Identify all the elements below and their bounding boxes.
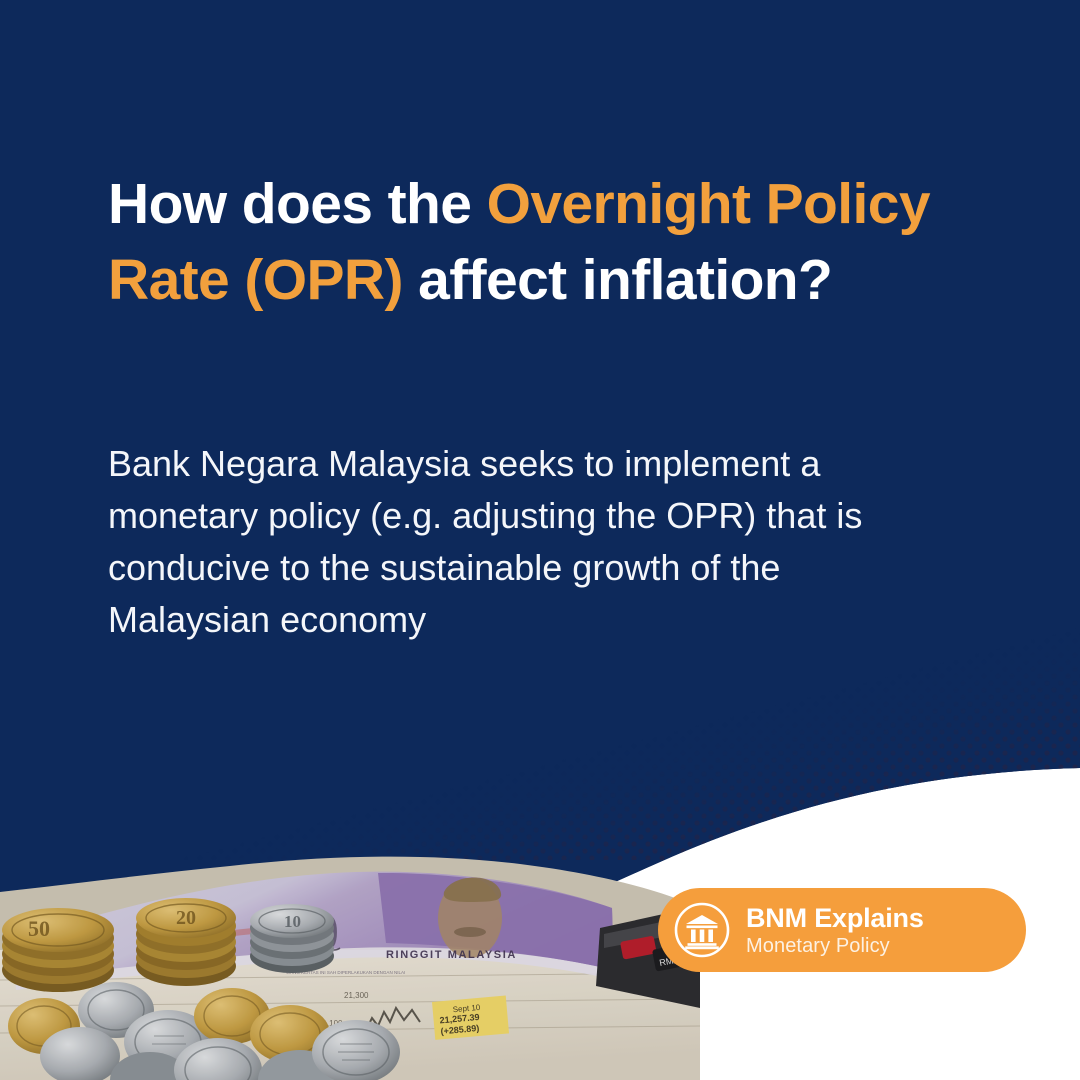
currency-photo: 21,300 21,100 100 RINGGIT MALAYSIA GABEN… (0, 830, 700, 1080)
bank-building-icon (672, 900, 732, 960)
badge-title: BNM Explains (746, 905, 924, 932)
headline-part-2: affect inflation? (403, 248, 832, 312)
badge-text-group: BNM Explains Monetary Policy (746, 905, 924, 956)
headline-part-1: How does the (108, 172, 487, 236)
badge-subtitle: Monetary Policy (746, 936, 924, 956)
bnm-explains-badge[interactable]: BNM Explains Monetary Policy (658, 888, 1026, 972)
page-title: How does the Overnight Policy Rate (OPR)… (108, 166, 988, 318)
poster-canvas: How does the Overnight Policy Rate (OPR)… (0, 0, 1080, 1080)
body-paragraph: Bank Negara Malaysia seeks to implement … (108, 438, 918, 646)
